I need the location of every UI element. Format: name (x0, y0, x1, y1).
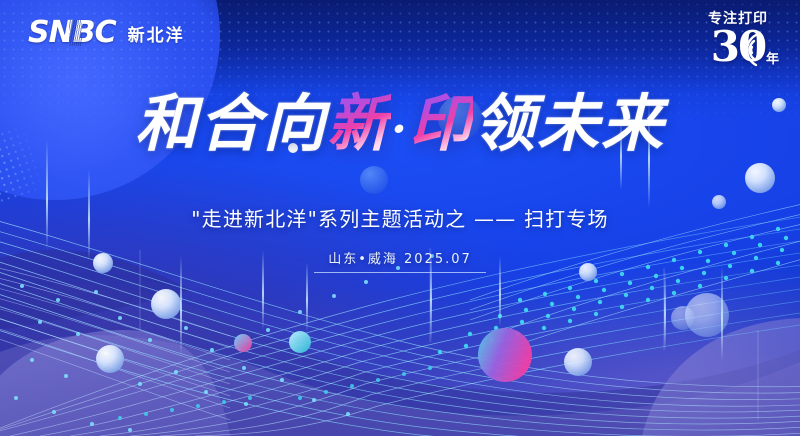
headline-wrap: 和合向新·印领未来 (0, 92, 800, 155)
anniversary-badge: 专注打印 30 年 (690, 12, 786, 68)
dateline-text: 山东•威海 2025.07 (314, 248, 486, 273)
event-subtitle: "走进新北洋"系列主题活动之 —— 扫打专场 (0, 203, 800, 232)
event-dateline: 山东•威海 2025.07 (0, 248, 800, 273)
headline-part-4: 领未来 (473, 87, 665, 160)
anniversary-arc-icon (730, 30, 770, 70)
headline-separator: · (391, 102, 409, 156)
snbc-logo-icon: SNBC (28, 18, 116, 48)
event-poster: SNBC 新北洋 专注打印 30 年 和合向新·印领未来 (0, 0, 800, 436)
headline-part-3: 印 (409, 87, 473, 160)
headline-part-1: 和合向 (135, 87, 327, 160)
headline-part-2: 新 (327, 87, 391, 160)
brand-logo: SNBC 新北洋 (28, 18, 185, 48)
brand-name-cn: 新北洋 (128, 21, 185, 46)
page-title: 和合向新·印领未来 (135, 92, 665, 155)
badge-unit: 年 (766, 48, 779, 67)
